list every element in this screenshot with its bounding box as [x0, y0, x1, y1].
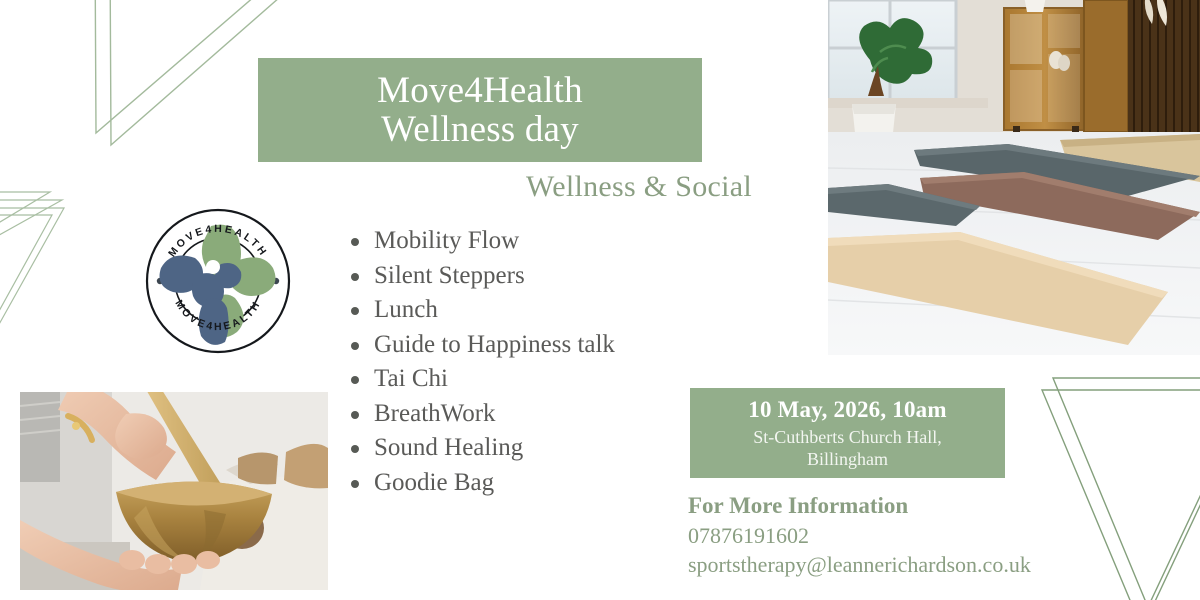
title-line-1: Move4Health [377, 71, 583, 110]
event-details-box: 10 May, 2026, 10am St-Cuthberts Church H… [690, 388, 1005, 478]
triangle-outline-left-2 [0, 200, 62, 268]
agenda-list: Mobility Flow Silent Steppers Lunch Guid… [348, 224, 615, 500]
bullet-icon [351, 273, 359, 281]
bullet-icon [351, 376, 359, 384]
list-item: Guide to Happiness talk [348, 328, 615, 363]
triangle-outline-left-3 [0, 215, 52, 418]
agenda-item-label: BreathWork [374, 400, 496, 427]
bullet-icon [351, 307, 359, 315]
agenda-item-label: Mobility Flow [374, 227, 519, 254]
agenda-item-label: Silent Steppers [374, 262, 525, 289]
agenda-item-label: Sound Healing [374, 434, 523, 461]
list-item: Sound Healing [348, 431, 615, 466]
list-item: BreathWork [348, 397, 615, 432]
contact-heading: For More Information [688, 490, 1168, 521]
list-item: Lunch [348, 293, 615, 328]
bullet-icon [351, 342, 359, 350]
event-date: 10 May, 2026, 10am [748, 396, 946, 425]
wellness-day-flyer: Move4Health Wellness day Wellness & Soci… [0, 0, 1200, 600]
bullet-icon [351, 480, 359, 488]
event-venue: St-Cuthberts Church Hall, Billingham [753, 427, 941, 470]
list-item: Tai Chi [348, 362, 615, 397]
move4health-logo: MOVE4HEALTH MOVE4HEALTH [143, 208, 293, 355]
list-item: Silent Steppers [348, 259, 615, 294]
triangle-outline-left-1 [0, 192, 50, 258]
subtitle: Wellness & Social [300, 170, 752, 204]
yoga-studio-photo [828, 0, 1200, 355]
contact-block: For More Information 07876191602 sportst… [688, 490, 1168, 580]
bullet-icon [351, 445, 359, 453]
contact-email[interactable]: sportstherapy@leannerichardson.co.uk [688, 550, 1168, 579]
event-venue-line-2: Billingham [753, 449, 941, 471]
title-line-2: Wellness day [381, 110, 579, 149]
list-item: Mobility Flow [348, 224, 615, 259]
bullet-icon [351, 411, 359, 419]
agenda-item-label: Guide to Happiness talk [374, 331, 615, 358]
bullet-icon [351, 238, 359, 246]
agenda-item-label: Goodie Bag [374, 469, 494, 496]
contact-phone[interactable]: 07876191602 [688, 521, 1168, 550]
title-block: Move4Health Wellness day [258, 58, 702, 162]
agenda-item-label: Lunch [374, 296, 438, 323]
agenda-item-label: Tai Chi [374, 365, 448, 392]
list-item: Goodie Bag [348, 466, 615, 501]
event-venue-line-1: St-Cuthberts Church Hall, [753, 427, 941, 449]
singing-bowl-photo [20, 392, 328, 590]
